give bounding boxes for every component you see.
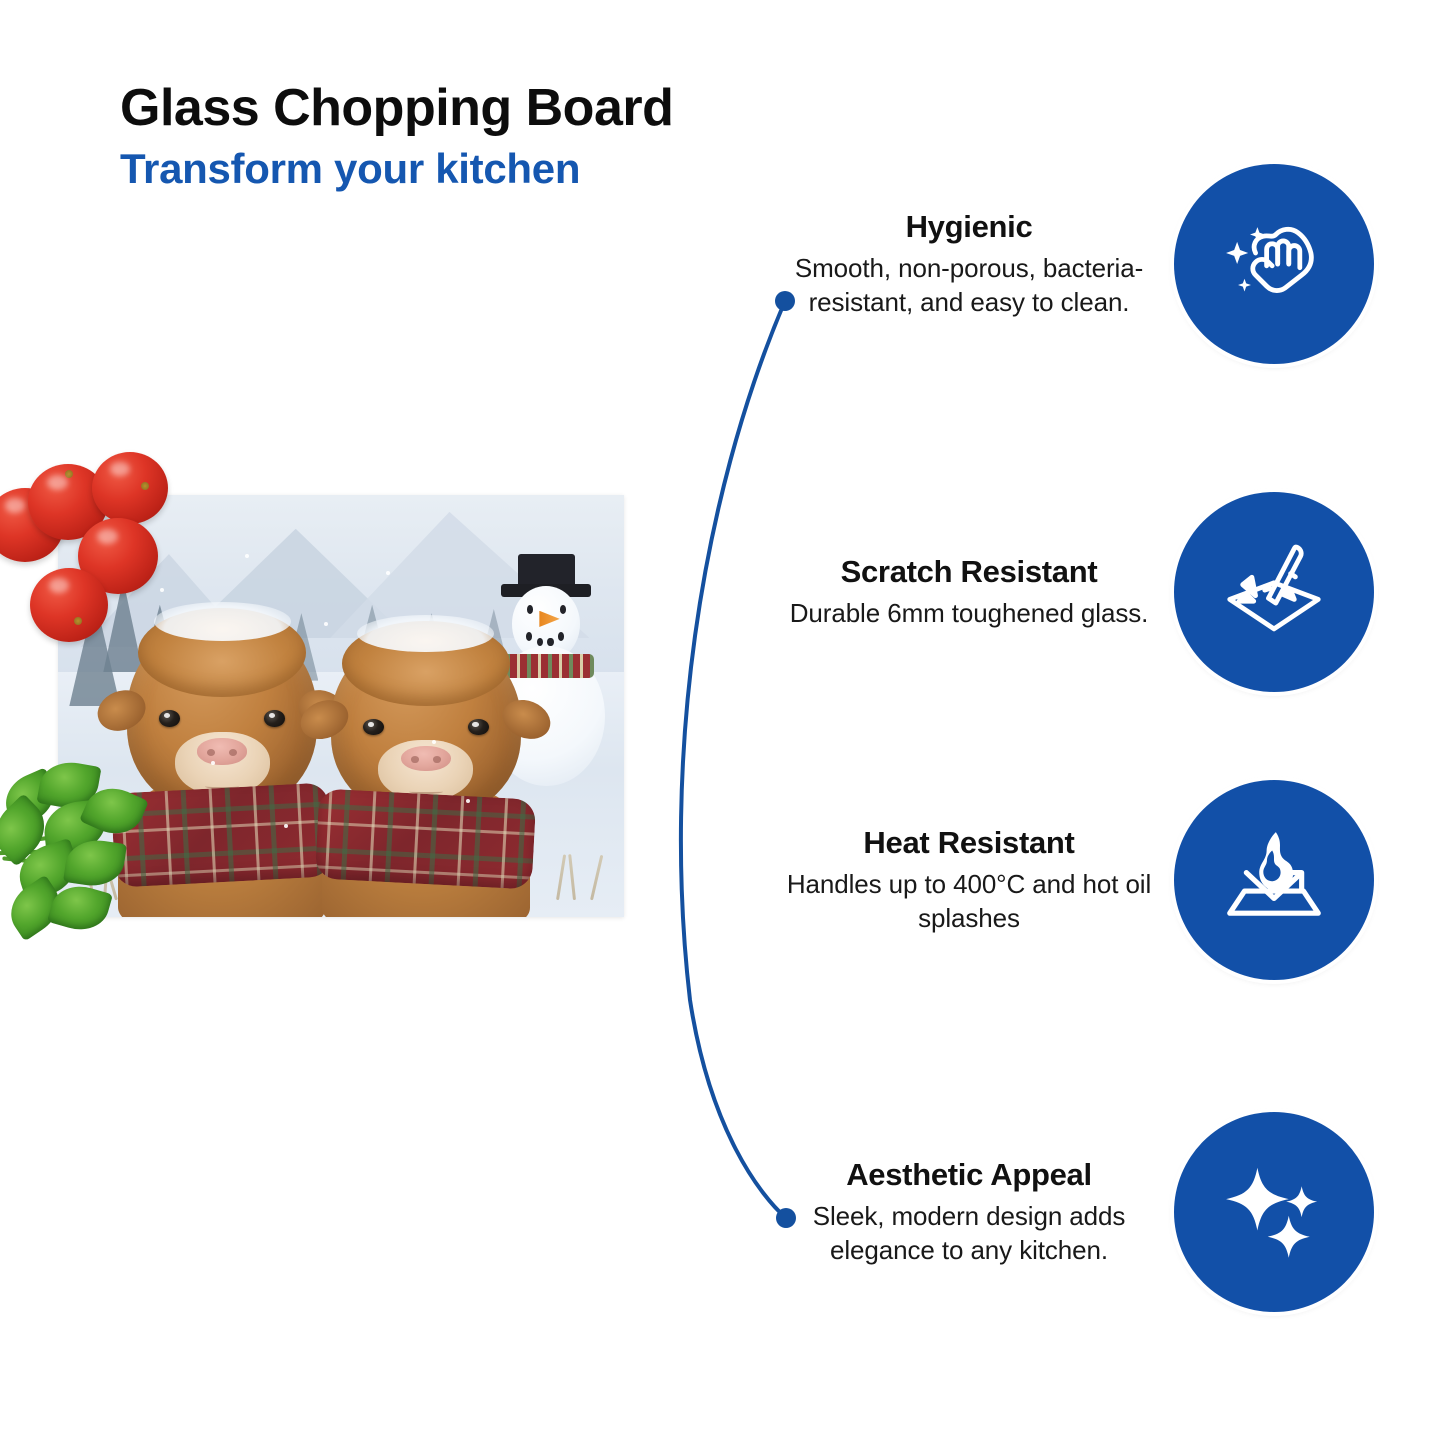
snowman-mouth-dot [547,638,553,646]
feature-description: Handles up to 400°C and hot oil splashes [784,867,1154,936]
feature-description: Durable 6mm toughened glass. [784,596,1154,630]
feature-description: Sleek, modern design adds elegance to an… [784,1199,1154,1268]
cherry-tomato [92,452,168,524]
snowman-eye [527,605,533,613]
feature-title: Aesthetic Appeal [784,1157,1154,1193]
feature-title: Scratch Resistant [784,554,1154,590]
calf-eye-right [468,719,489,735]
feature-heat-resistant: Heat Resistant Handles up to 400°C and h… [784,780,1374,980]
feature-text: Hygienic Smooth, non-porous, bacteria-re… [784,209,1154,319]
feature-aesthetic-appeal: Aesthetic Appeal Sleek, modern design ad… [784,1112,1374,1312]
product-image [0,440,660,1010]
connector-path [681,301,786,1218]
calf-tartan-scarf [111,782,333,887]
infographic-canvas: Glass Chopping Board Transform your kitc… [0,0,1445,1445]
calf-eye-left [159,710,180,726]
highland-calf-right [313,626,539,917]
cherry-tomato [30,568,108,642]
calf-tartan-scarf [315,788,537,889]
knife-on-surface-icon [1174,492,1374,692]
sparkles-icon [1174,1112,1374,1312]
feature-text: Heat Resistant Handles up to 400°C and h… [784,825,1154,935]
feature-title: Heat Resistant [784,825,1154,861]
feature-title: Hygienic [784,209,1154,245]
feature-text: Aesthetic Appeal Sleek, modern design ad… [784,1157,1154,1267]
page-subtitle: Transform your kitchen [120,146,880,192]
snowman-eye [560,605,566,613]
flame-on-surface-icon [1174,780,1374,980]
hand-wipe-sparkle-icon [1174,164,1374,364]
snow-on-head [154,602,291,641]
calf-eye-right [264,710,285,726]
feature-scratch-resistant: Scratch Resistant Durable 6mm toughened … [784,492,1374,692]
calf-eye-left [363,719,384,735]
header-block: Glass Chopping Board Transform your kitc… [120,80,880,192]
highland-calf-left [109,613,335,917]
feature-text: Scratch Resistant Durable 6mm toughened … [784,554,1154,630]
feature-description: Smooth, non-porous, bacteria-resistant, … [784,251,1154,320]
page-title: Glass Chopping Board [120,80,880,136]
calf-nose [197,738,246,765]
calf-nose [401,746,450,772]
feature-hygienic: Hygienic Smooth, non-porous, bacteria-re… [784,164,1374,364]
